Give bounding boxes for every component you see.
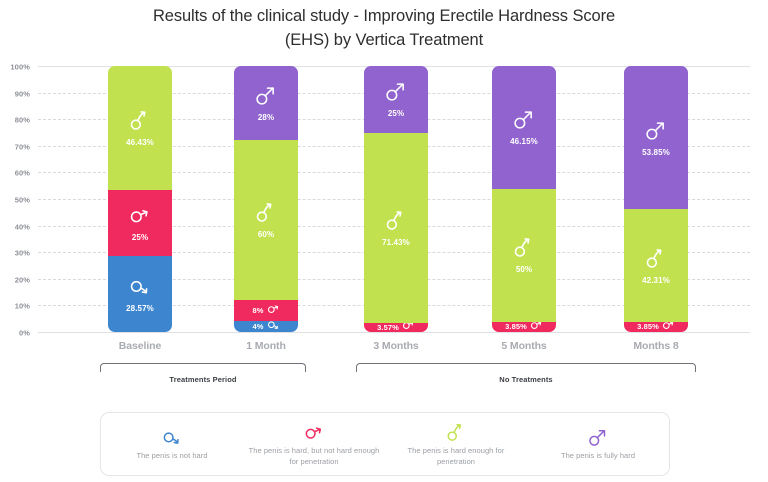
male-symbol-droop-icon bbox=[255, 201, 277, 228]
bar-segment-value: 71.43% bbox=[382, 238, 410, 247]
male-symbol-flat-icon bbox=[129, 204, 151, 231]
bar-segment-value: 25% bbox=[132, 233, 148, 242]
bracket-label: Treatments Period bbox=[100, 375, 306, 384]
bar-segment[interactable]: 28.57% bbox=[108, 256, 172, 332]
bar-segment-value: 28.57% bbox=[126, 304, 154, 313]
y-axis-tick-label: 10% bbox=[15, 302, 30, 311]
bar-segment-value: 42.31% bbox=[642, 276, 670, 285]
chart-title: Results of the clinical study - Improvin… bbox=[0, 4, 768, 52]
bar-segment-value: 3.85% bbox=[637, 322, 659, 331]
legend-item[interactable]: The penis is not hard bbox=[101, 427, 243, 461]
bar-segment[interactable]: 42.31% bbox=[624, 209, 688, 322]
male-symbol-down-icon bbox=[162, 427, 182, 447]
bar-segment-value: 60% bbox=[258, 230, 274, 239]
male-symbol-down-icon bbox=[129, 275, 151, 302]
y-axis-tick-label: 80% bbox=[15, 116, 30, 125]
male-symbol-flat-icon bbox=[402, 323, 415, 332]
bar-segment[interactable]: 3.85% bbox=[492, 322, 556, 332]
bracket-label: No Treatments bbox=[356, 375, 696, 384]
male-symbol-flat-icon bbox=[530, 322, 543, 332]
bar-segment[interactable]: 8% bbox=[234, 300, 298, 321]
male-symbol-up-icon bbox=[513, 108, 535, 135]
chart-legend: The penis is not hardThe penis is hard, … bbox=[100, 412, 670, 476]
bracket-line bbox=[356, 363, 696, 372]
male-symbol-flat-icon bbox=[267, 302, 280, 320]
y-axis-tick-label: 30% bbox=[15, 249, 30, 258]
legend-item-label: The penis is not hard bbox=[136, 450, 207, 461]
y-axis-tick-label: 70% bbox=[15, 142, 30, 151]
legend-item[interactable]: The penis is hard enough for penetration bbox=[385, 422, 527, 467]
x-axis-label-3-months: 3 Months bbox=[341, 340, 451, 352]
chart-title-line-1: Results of the clinical study - Improvin… bbox=[0, 4, 768, 28]
chart-title-line-2: (EHS) by Vertica Treatment bbox=[0, 28, 768, 52]
stacked-bar[interactable]: 46.15%50%3.85% bbox=[492, 66, 556, 332]
bar-segment-value: 8% bbox=[252, 306, 263, 315]
bar-segment-value: 3.85% bbox=[505, 322, 527, 331]
male-symbol-up-icon bbox=[645, 119, 667, 146]
stacked-bar[interactable]: 46.43%25%28.57% bbox=[108, 66, 172, 332]
legend-item-label: The penis is hard enough for penetration bbox=[389, 445, 523, 467]
stacked-bar[interactable]: 53.85%42.31%3.85% bbox=[624, 66, 688, 332]
y-axis-tick-label: 90% bbox=[15, 89, 30, 98]
male-symbol-up-icon bbox=[255, 84, 277, 111]
bar-group: 46.43%25%28.57%28%60%8%4%25%71.43%3.57%4… bbox=[38, 66, 750, 332]
legend-item[interactable]: The penis is hard, but not hard enough f… bbox=[243, 422, 385, 467]
legend-item[interactable]: The penis is fully hard bbox=[527, 427, 669, 461]
bar-segment[interactable]: 25% bbox=[108, 190, 172, 257]
legend-item-label: The penis is hard, but not hard enough f… bbox=[247, 445, 381, 467]
bar-segment[interactable]: 71.43% bbox=[364, 133, 428, 323]
x-axis-label-1-month: 1 Month bbox=[211, 340, 321, 352]
male-symbol-droop-icon bbox=[446, 422, 466, 442]
bar-segment[interactable]: 50% bbox=[492, 189, 556, 322]
gridline: 0% bbox=[38, 332, 750, 333]
bar-segment[interactable]: 4% bbox=[234, 321, 298, 332]
bar-segment-value: 4% bbox=[252, 322, 263, 331]
male-symbol-up-icon bbox=[588, 427, 608, 447]
male-symbol-droop-icon bbox=[129, 109, 151, 136]
x-axis-label-5-months: 5 Months bbox=[469, 340, 579, 352]
male-symbol-up-icon bbox=[385, 80, 407, 107]
bar-segment[interactable]: 3.57% bbox=[364, 323, 428, 332]
bracket-line bbox=[100, 363, 306, 372]
y-axis-tick-label: 0% bbox=[19, 329, 30, 338]
male-symbol-droop-icon bbox=[645, 247, 667, 274]
x-axis-label-months-8: Months 8 bbox=[601, 340, 711, 352]
stacked-bar[interactable]: 28%60%8%4% bbox=[234, 66, 298, 332]
legend-item-label: The penis is fully hard bbox=[561, 450, 635, 461]
bar-segment-value: 53.85% bbox=[642, 148, 670, 157]
bar-segment[interactable]: 53.85% bbox=[624, 66, 688, 209]
bar-segment[interactable]: 46.15% bbox=[492, 66, 556, 189]
bar-segment-value: 50% bbox=[516, 265, 532, 274]
male-symbol-droop-icon bbox=[513, 236, 535, 263]
bar-segment-value: 3.57% bbox=[377, 323, 399, 332]
bar-segment[interactable]: 25% bbox=[364, 66, 428, 133]
male-symbol-flat-icon bbox=[662, 322, 675, 332]
bar-segment[interactable]: 60% bbox=[234, 140, 298, 300]
male-symbol-droop-icon bbox=[385, 209, 407, 236]
stacked-bar[interactable]: 25%71.43%3.57% bbox=[364, 66, 428, 332]
bar-segment-value: 46.43% bbox=[126, 138, 154, 147]
x-axis-label-baseline: Baseline bbox=[85, 340, 195, 352]
y-axis-tick-label: 100% bbox=[10, 63, 30, 72]
bar-segment[interactable]: 3.85% bbox=[624, 322, 688, 332]
plot-area: 100%90%80%70%60%50%40%30%20%10%0% 46.43%… bbox=[38, 66, 750, 332]
bar-segment[interactable]: 46.43% bbox=[108, 66, 172, 190]
male-symbol-flat-icon bbox=[304, 422, 324, 442]
y-axis-tick-label: 20% bbox=[15, 275, 30, 284]
y-axis-tick-label: 40% bbox=[15, 222, 30, 231]
male-symbol-down-icon bbox=[267, 321, 280, 332]
bar-segment-value: 46.15% bbox=[510, 137, 538, 146]
y-axis-tick-label: 50% bbox=[15, 196, 30, 205]
bar-segment-value: 28% bbox=[258, 113, 274, 122]
bar-segment[interactable]: 28% bbox=[234, 66, 298, 140]
bar-segment-value: 25% bbox=[388, 109, 404, 118]
y-axis-tick-label: 60% bbox=[15, 169, 30, 178]
chart-root: Results of the clinical study - Improvin… bbox=[0, 0, 768, 482]
